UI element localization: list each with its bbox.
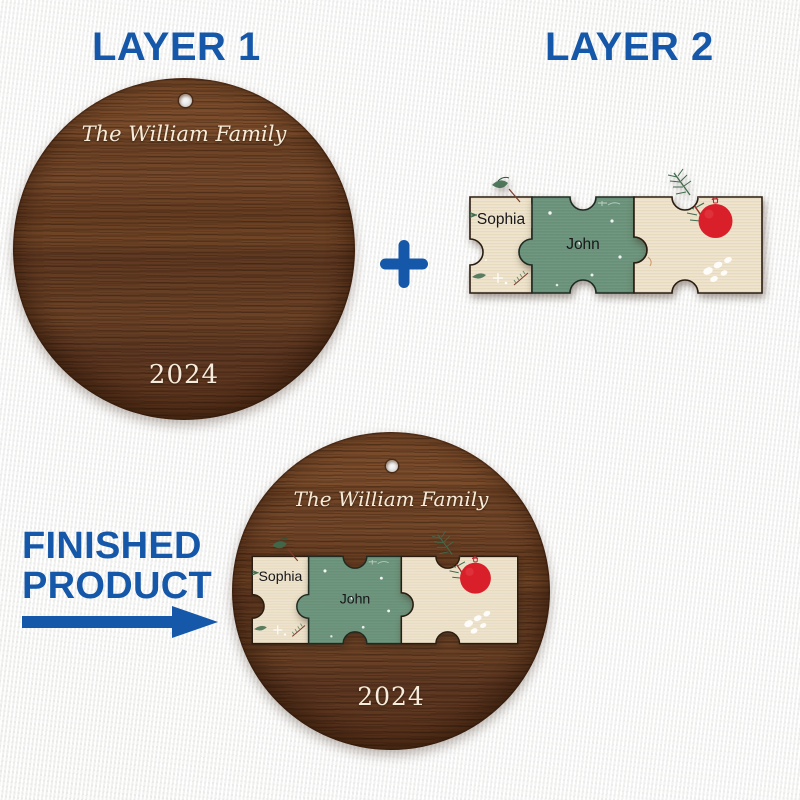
finished-sophia-label: Sophia [259,568,303,584]
finished-line-2: PRODUCT [22,567,212,607]
finished-line-1: FINISHED [22,527,212,567]
layer-1-year: 2024 [13,360,355,390]
finished-ornament-tab-decor [432,531,453,555]
puzzle-piece-john[interactable]: John [519,197,647,293]
layer-1-wood-round[interactable]: The William Family 2024 [13,78,355,420]
ornament-top-tab-decor [668,169,691,195]
finished-piece-john[interactable]: John [297,556,413,643]
finished-product-label: FINISHED PRODUCT [22,527,212,606]
john-label: John [566,236,600,253]
layer-1-title: LAYER 1 [92,27,261,67]
plus-icon [378,238,430,290]
hang-hole [179,94,192,107]
finished-family-name: The William Family [232,487,550,511]
finished-puzzle-group[interactable]: Sophia John [245,525,545,675]
finished-john-label: John [340,591,371,607]
puzzle-svg-finished: Sophia John [245,525,545,675]
ornament-preview-stage: LAYER 1 LAYER 2 The William Family 2024 [0,0,800,800]
sophia-label: Sophia [477,211,526,228]
layer-2-puzzle-group[interactable]: Sophia John [462,165,792,325]
puzzle-svg-layer2: Sophia John [462,165,792,325]
finished-piece-ornament[interactable] [401,531,517,644]
layer-1-family-name: The William Family [13,122,355,146]
finished-hang-hole [386,460,398,472]
finished-year: 2024 [232,682,550,711]
right-arrow-icon [22,604,218,640]
layer-2-title: LAYER 2 [545,27,714,67]
